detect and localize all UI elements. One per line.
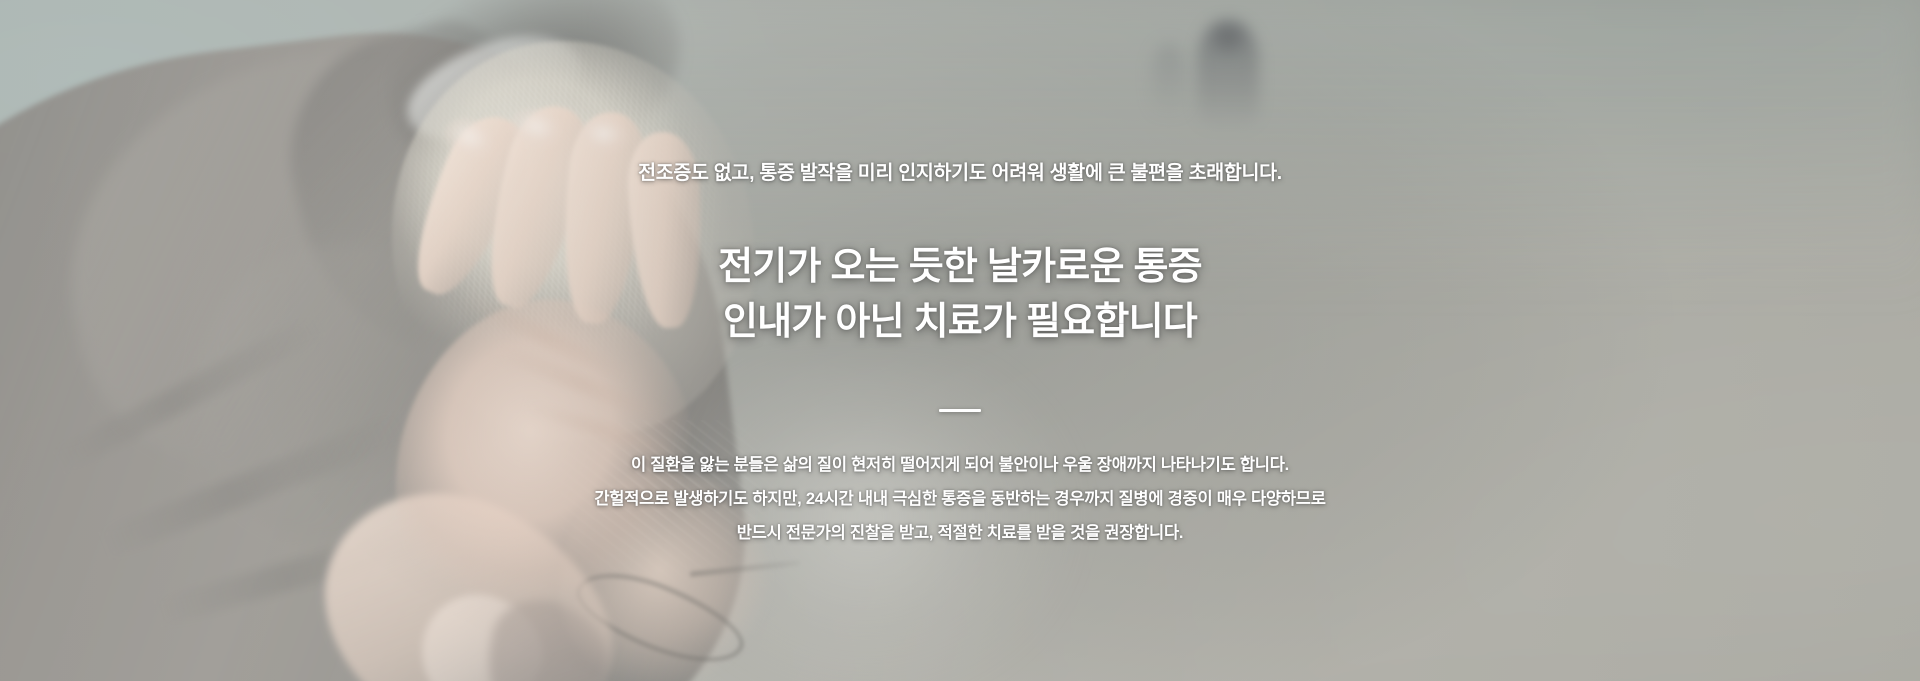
hero-headline-line-1: 전기가 오는 듯한 날카로운 통증 (718, 240, 1202, 295)
hero-body-line-2: 간헐적으로 발생하기도 하지만, 24시간 내내 극심한 통증을 동반하는 경우… (594, 482, 1325, 516)
hero-divider (939, 409, 981, 412)
hero-body-line-3: 반드시 전문가의 진찰을 받고, 적절한 치료를 받을 것을 권장합니다. (594, 516, 1325, 550)
hero-headline: 전기가 오는 듯한 날카로운 통증 인내가 아닌 치료가 필요합니다 (718, 240, 1202, 351)
hero-content: 전조증도 없고, 통증 발작을 미리 인지하기도 어려워 생활에 큰 불편을 초… (0, 0, 1920, 681)
hero-eyebrow-text: 전조증도 없고, 통증 발작을 미리 인지하기도 어려워 생활에 큰 불편을 초… (638, 160, 1282, 187)
hero-headline-line-2: 인내가 아닌 치료가 필요합니다 (718, 295, 1202, 350)
hero-body-line-1: 이 질환을 앓는 분들은 삶의 질이 현저히 떨어지게 되어 불안이나 우울 장… (594, 448, 1325, 482)
hero-body-copy: 이 질환을 앓는 분들은 삶의 질이 현저히 떨어지게 되어 불안이나 우울 장… (594, 448, 1325, 550)
hero-banner: 전조증도 없고, 통증 발작을 미리 인지하기도 어려워 생활에 큰 불편을 초… (0, 0, 1920, 681)
